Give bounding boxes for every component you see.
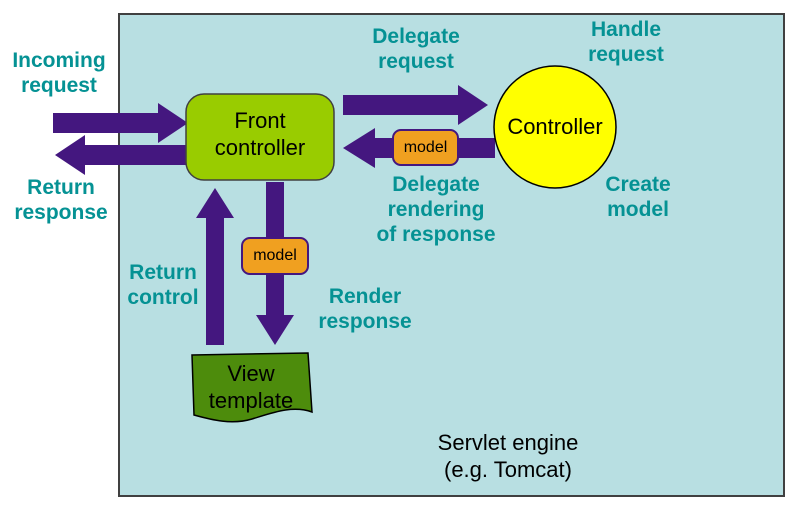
label-return-control: Return control: [108, 260, 218, 310]
label-handle-request: Handle request: [562, 17, 690, 67]
front-controller-label: Front controller: [186, 107, 334, 161]
controller-label: Controller: [495, 113, 615, 140]
servlet-engine-caption: Servlet engine (e.g. Tomcat): [358, 429, 658, 483]
servlet-engine-container: [118, 13, 785, 497]
diagram-canvas: .pa { fill: #44177f; }: [0, 0, 800, 513]
label-delegate-request: Delegate request: [352, 24, 480, 74]
label-create-model: Create model: [582, 172, 694, 222]
label-return-response: Return response: [0, 175, 122, 225]
label-render-response: Render response: [300, 284, 430, 334]
model-badge-view-label: model: [242, 247, 308, 265]
label-incoming-request: Incoming request: [0, 48, 118, 98]
view-template-label: View template: [192, 360, 310, 414]
label-delegate-rendering: Delegate rendering of response: [357, 172, 515, 247]
model-badge-controller-label: model: [393, 139, 458, 157]
